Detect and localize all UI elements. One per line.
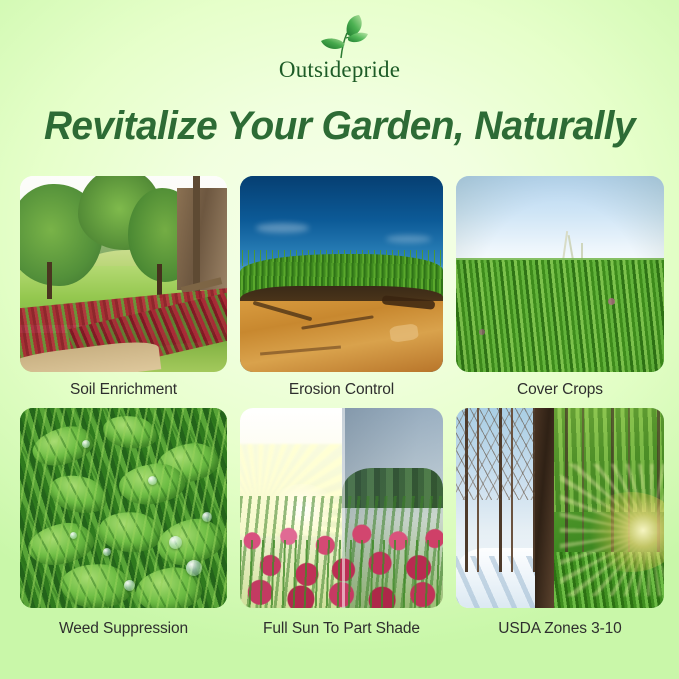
soil-enrichment-image [20,176,227,372]
usda-zones-image [456,408,664,608]
erosion-control-image [240,176,443,372]
feature-card-erosion-control: Erosion Control [240,176,443,400]
brand-logo: Outsidepride [0,14,679,92]
feature-grid: Soil Enrichment Erosion Control [20,176,663,638]
cover-crops-image [456,176,664,372]
feature-caption: Cover Crops [456,381,664,400]
page-title: Revitalize Your Garden, Naturally [10,104,669,149]
feature-caption: Full Sun To Part Shade [240,620,443,639]
promo-graphic: Outsidepride Revitalize Your Garden, Nat… [0,0,679,679]
full-sun-to-part-shade-image [240,408,443,608]
feature-card-cover-crops: Cover Crops [456,176,664,400]
feature-caption: USDA Zones 3-10 [456,620,664,639]
feature-caption: Erosion Control [240,381,443,400]
brand-name: Outsidepride [279,58,400,81]
feature-card-weed-suppression: Weed Suppression [20,408,227,639]
feature-card-soil-enrichment: Soil Enrichment [20,176,227,400]
feature-caption: Soil Enrichment [20,381,227,400]
feature-caption: Weed Suppression [20,620,227,639]
leaf-sprig-icon [307,14,373,60]
weed-suppression-image [20,408,227,608]
feature-card-usda-zones: USDA Zones 3-10 [456,408,664,639]
feature-card-full-sun-to-part-shade: Full Sun To Part Shade [240,408,443,639]
